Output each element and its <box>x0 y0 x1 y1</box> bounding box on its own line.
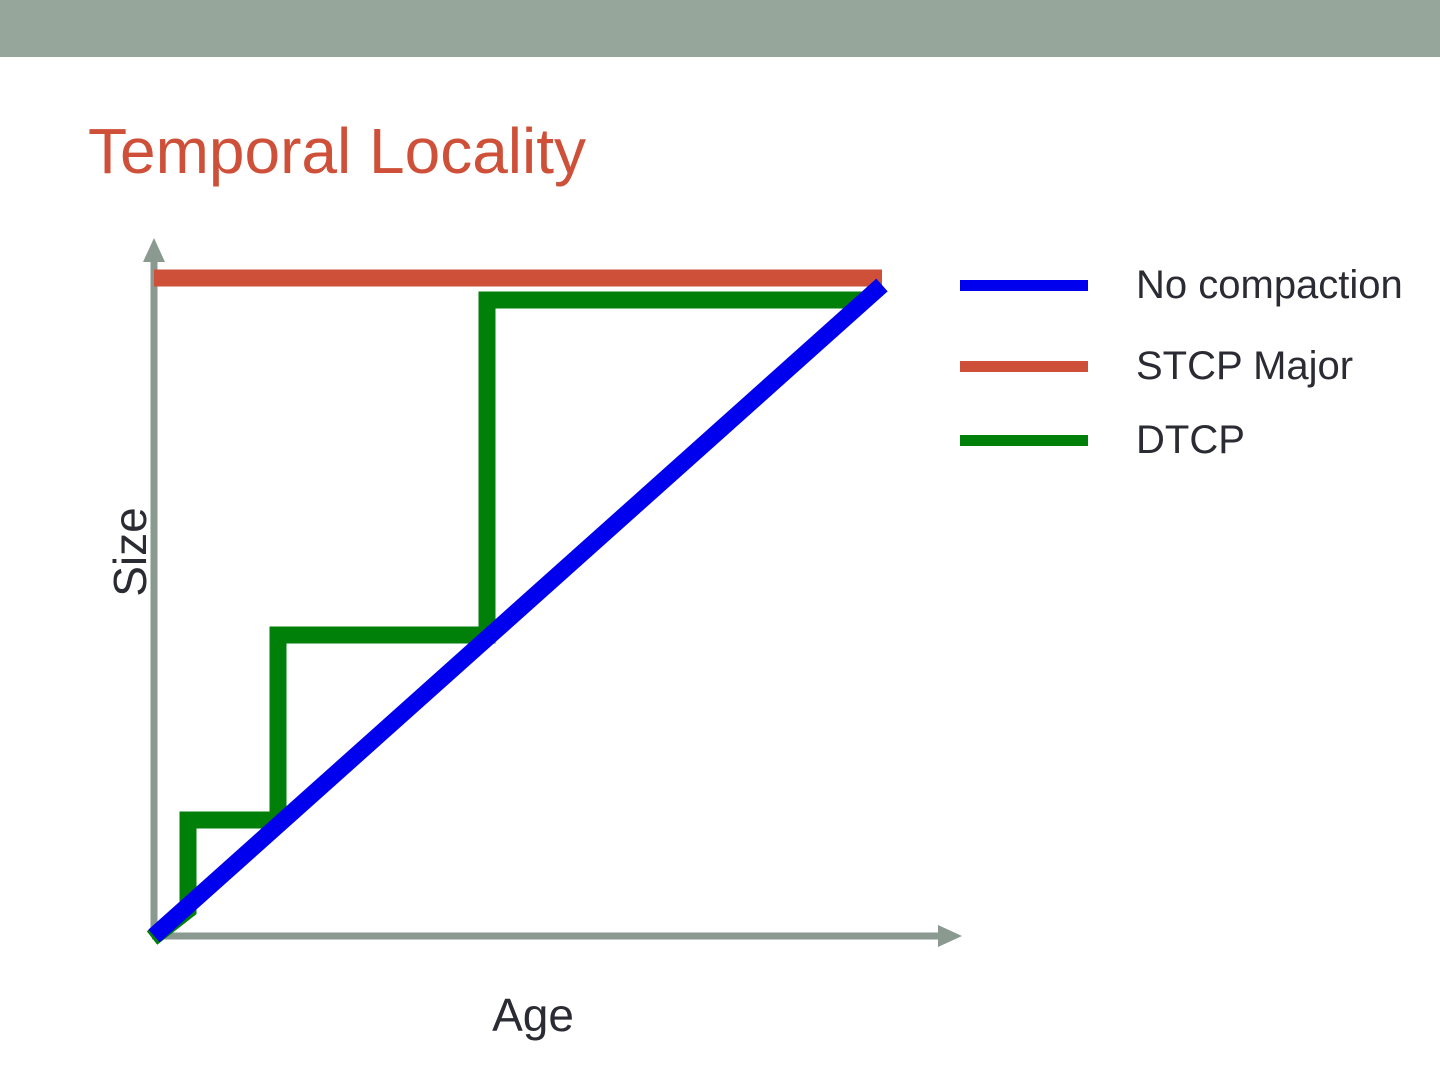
legend-item-label: No compaction <box>1136 265 1403 305</box>
series-line-no-compaction <box>154 285 882 936</box>
legend-item-dtcp: DTCP <box>960 410 1245 470</box>
slide-canvas: Temporal Locality Size Age <box>0 0 1440 1080</box>
chart-plot: Size Age <box>0 0 1010 1080</box>
legend-swatch-icon <box>960 435 1088 446</box>
legend-item-no-compaction: No compaction <box>960 255 1403 315</box>
legend-item-stcp-major: STCP Major <box>960 336 1353 396</box>
y-axis-label: Size <box>100 482 160 622</box>
legend-item-label: DTCP <box>1136 420 1245 460</box>
x-axis <box>152 925 962 947</box>
legend-item-label: STCP Major <box>1136 346 1353 386</box>
legend-swatch-icon <box>960 280 1088 291</box>
x-axis-label: Age <box>433 988 633 1042</box>
legend-swatch-icon <box>960 361 1088 372</box>
